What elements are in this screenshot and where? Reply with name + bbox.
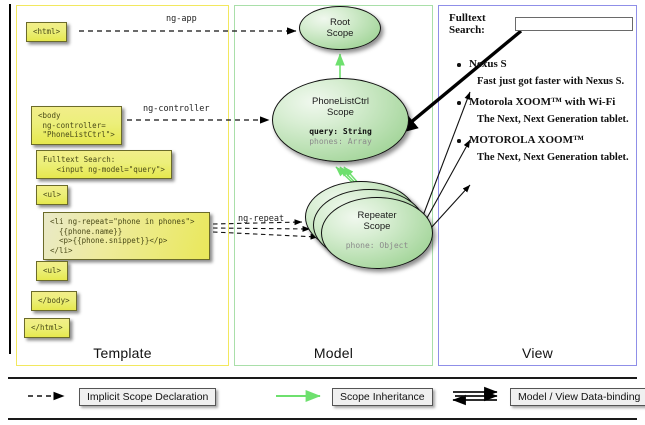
view-item-snippet: The Next, Next Generation tablet. (477, 114, 633, 125)
scope-repeater: Repeater Scope phone: Object (321, 197, 433, 269)
legend-model-view-data-binding-label: Model / View Data-binding (510, 388, 645, 406)
legend-implicit-scope-declaration-label: Implicit Scope Declaration (79, 388, 216, 406)
model-column-label: Model (235, 345, 432, 361)
view-list-item[interactable]: MOTOROLA XOOM™ The Next, Next Generation… (469, 134, 633, 163)
code-box-li-ng-repeat: <li ng-repeat="phone in phones"> {{phone… (43, 212, 210, 260)
code-box-ul-open: <ul> (36, 185, 68, 205)
outer-frame-left-rule (9, 4, 11, 354)
list-bullet-icon (457, 139, 461, 143)
legend-scope-inheritance-label: Scope Inheritance (332, 388, 433, 406)
template-column-label: Template (17, 345, 228, 361)
scope-repeater-props: phone: Object (322, 241, 432, 251)
legend-divider-top (8, 377, 637, 379)
code-box-ul-close: <ul> (36, 261, 68, 281)
legend-model-view-data-binding: Model / View Data-binding (452, 388, 645, 406)
edge-label-ng-app: ng-app (166, 14, 197, 24)
view-column-label: View (439, 345, 636, 361)
scope-phonelistctrl-props: query: String phones: Array (273, 127, 408, 147)
scope-prop-query: query: String (273, 127, 408, 137)
view-list-item[interactable]: Motorola XOOM™ with Wi-Fi The Next, Next… (469, 96, 633, 125)
legend-divider-bottom (8, 418, 637, 420)
view-search-input[interactable] (515, 17, 633, 31)
view-item-snippet: Fast just got faster with Nexus S. (477, 76, 633, 87)
view-item-name: Motorola XOOM™ with Wi-Fi (469, 96, 615, 108)
code-box-body-close: </body> (31, 291, 77, 311)
code-box-html-open: <html> (26, 22, 67, 42)
scope-root-title: Root Scope (300, 7, 380, 39)
scope-phonelistctrl: PhoneListCtrl Scope query: String phones… (272, 78, 409, 162)
code-box-body-open: <body ng-controller= "PhoneListCtrl"> (31, 106, 122, 145)
view-panel-content: Fulltext Search: Nexus S Fast just got f… (443, 12, 633, 172)
list-bullet-icon (457, 101, 461, 105)
view-item-snippet: The Next, Next Generation tablet. (477, 152, 633, 163)
view-phone-list: Nexus S Fast just got faster with Nexus … (443, 58, 633, 163)
code-box-search-input: Fulltext Search: <input ng-model="query"… (36, 150, 172, 179)
diagram-root: Template Model View (0, 0, 645, 425)
view-item-name: Nexus S (469, 58, 507, 70)
edge-label-ng-controller: ng-controller (143, 104, 210, 114)
scope-prop-phone: phone: Object (322, 241, 432, 251)
view-item-name: MOTOROLA XOOM™ (469, 134, 584, 146)
scope-phonelistctrl-title: PhoneListCtrl Scope (273, 79, 408, 118)
legend-implicit-scope-declaration: Implicit Scope Declaration (27, 388, 216, 406)
list-bullet-icon (457, 63, 461, 67)
view-search-label: Fulltext Search: (449, 12, 510, 36)
edge-label-ng-repeat: ng-repeat (238, 214, 284, 224)
scope-prop-phones: phones: Array (273, 137, 408, 147)
scope-repeater-title: Repeater Scope (322, 198, 432, 232)
scope-root: Root Scope (299, 6, 381, 50)
code-box-html-close: </html> (24, 318, 70, 338)
legend-scope-inheritance: Scope Inheritance (274, 388, 433, 406)
view-search-row: Fulltext Search: (443, 12, 633, 36)
view-list-item[interactable]: Nexus S Fast just got faster with Nexus … (469, 58, 633, 87)
